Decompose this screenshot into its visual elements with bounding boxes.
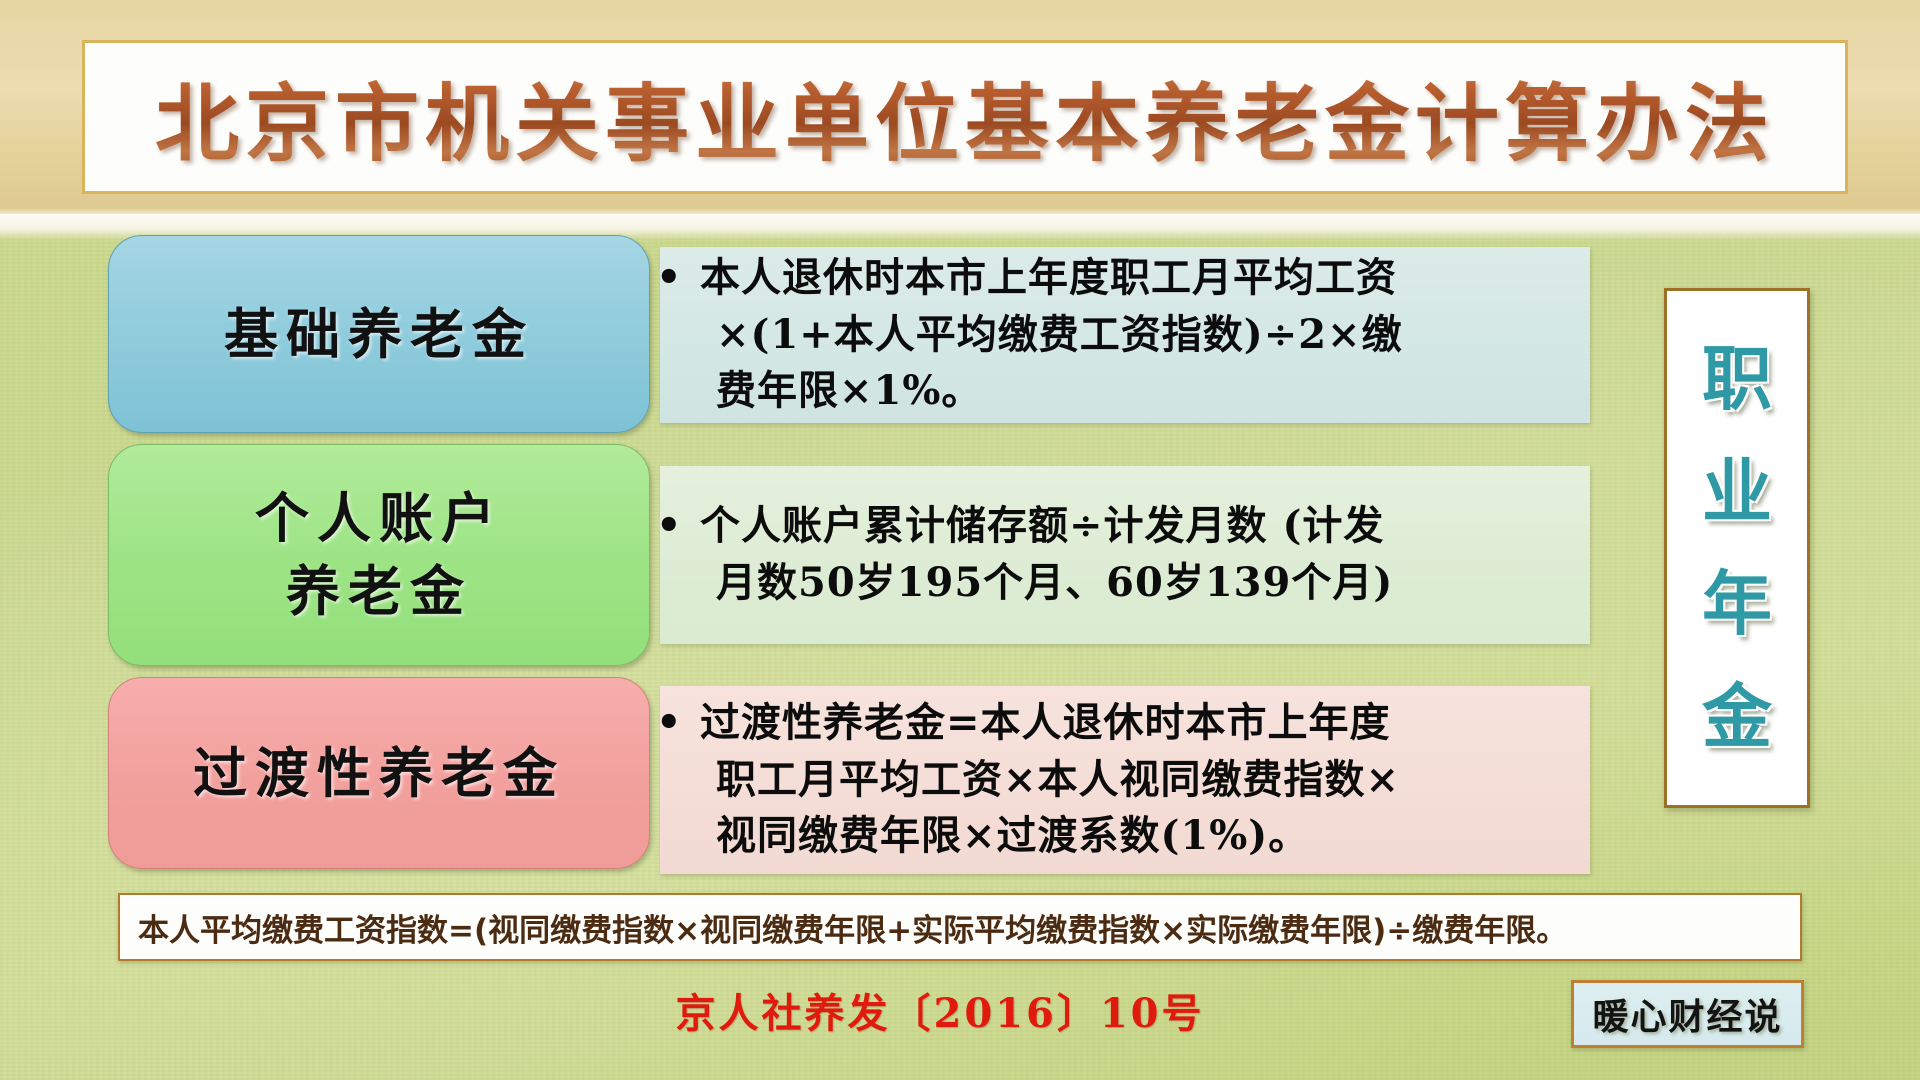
title-frame: 北京市机关事业单位基本养老金计算办法 xyxy=(82,40,1848,194)
pension-formula-basic: •本人退休时本市上年度职工月平均工资 ×(1+本人平均缴费工资指数)÷2×缴 费… xyxy=(660,247,1590,423)
pension-label-personal-account-text: 个人账户 养老金 xyxy=(255,482,503,628)
pension-label-basic[interactable]: 基础养老金 xyxy=(108,235,650,433)
formula-line: 职工月平均工资×本人视同缴费指数× xyxy=(686,752,1400,809)
formula-line-text: 本人退休时本市上年度职工月平均工资 xyxy=(700,254,1397,301)
pension-label-basic-text: 基础养老金 xyxy=(224,298,534,371)
pension-label-personal-account-line2: 养老金 xyxy=(286,559,472,623)
formula-line: 费年限×1%。 xyxy=(686,363,1403,420)
pension-label-transitional-text: 过渡性养老金 xyxy=(193,737,565,810)
pension-formula-transitional-body: •过渡性养老金=本人退休时本市上年度 职工月平均工资×本人视同缴费指数× 视同缴… xyxy=(660,695,1420,865)
bullet-icon: • xyxy=(686,498,700,555)
formula-line-text: 个人账户累计储存额÷计发月数 (计发 xyxy=(700,502,1384,549)
vertical-banner-occupational-annuity: 职 业 年 金 xyxy=(1664,288,1810,808)
formula-line: •本人退休时本市上年度职工月平均工资 xyxy=(686,250,1403,307)
vertical-banner-char: 年 xyxy=(1702,569,1772,639)
vertical-banner-char: 金 xyxy=(1702,682,1772,752)
vertical-banner-char: 职 xyxy=(1702,344,1772,414)
formula-line: •个人账户累计储存额÷计发月数 (计发 xyxy=(686,498,1393,555)
vertical-banner-char: 业 xyxy=(1702,457,1772,527)
slide-canvas: 北京市机关事业单位基本养老金计算办法 基础养老金 个人账户 养老金 过渡性养老金… xyxy=(0,0,1920,1080)
watermark-badge: 暖心财经说 xyxy=(1571,980,1804,1048)
pension-formula-personal-account-body: •个人账户累计储存额÷计发月数 (计发 月数50岁195个月、60岁139个月) xyxy=(660,498,1413,612)
formula-line: 月数50岁195个月、60岁139个月) xyxy=(686,555,1393,612)
pension-formula-basic-body: •本人退休时本市上年度职工月平均工资 ×(1+本人平均缴费工资指数)÷2×缴 费… xyxy=(660,250,1423,420)
footnote-box: 本人平均缴费工资指数=(视同缴费指数×视同缴费年限+实际平均缴费指数×实际缴费年… xyxy=(118,893,1802,961)
formula-line: ×(1+本人平均缴费工资指数)÷2×缴 xyxy=(686,307,1403,364)
bullet-icon: • xyxy=(686,250,700,307)
formula-line: 视同缴费年限×过渡系数(1%)。 xyxy=(686,808,1400,865)
footnote-text: 本人平均缴费工资指数=(视同缴费指数×视同缴费年限+实际平均缴费指数×实际缴费年… xyxy=(120,905,1567,950)
document-number-text: 京人社养发〔2016〕10号 xyxy=(676,981,1205,1039)
formula-line-text: 过渡性养老金=本人退休时本市上年度 xyxy=(700,699,1391,746)
pension-label-personal-account[interactable]: 个人账户 养老金 xyxy=(108,444,650,666)
formula-line: •过渡性养老金=本人退休时本市上年度 xyxy=(686,695,1400,752)
page-title: 北京市机关事业单位基本养老金计算办法 xyxy=(155,57,1775,178)
pension-formula-transitional: •过渡性养老金=本人退休时本市上年度 职工月平均工资×本人视同缴费指数× 视同缴… xyxy=(660,686,1590,874)
pension-label-transitional[interactable]: 过渡性养老金 xyxy=(108,677,650,869)
pension-formula-personal-account: •个人账户累计储存额÷计发月数 (计发 月数50岁195个月、60岁139个月) xyxy=(660,466,1590,644)
watermark-badge-text: 暖心财经说 xyxy=(1592,988,1782,1040)
bullet-icon: • xyxy=(686,695,700,752)
pension-label-personal-account-line1: 个人账户 xyxy=(255,486,503,550)
